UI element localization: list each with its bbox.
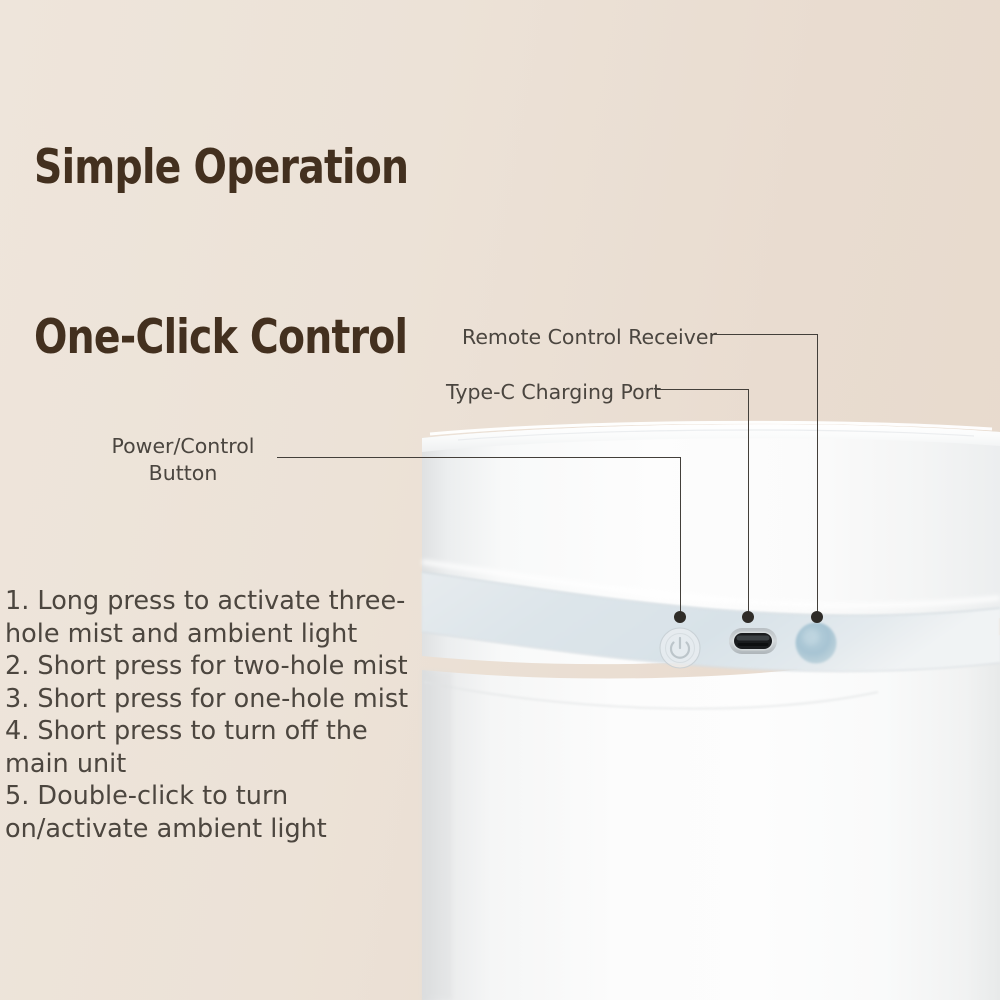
callout-label-power-control-button: Power/Control Button (92, 433, 274, 487)
power-button-graphic (660, 628, 700, 668)
instruction-list: 1. Long press to activate three-hole mis… (5, 585, 437, 845)
callout-label-power-line-1: Power/Control (112, 434, 255, 458)
callout-label-power-line-2: Button (149, 461, 218, 485)
leader-dot-power-control-button (674, 611, 686, 623)
callout-label-type-c-charging-port: Type-C Charging Port (446, 379, 661, 406)
instruction-step-3: 3. Short press for one-hole mist (5, 683, 437, 716)
instruction-step-2: 2. Short press for two-hole mist (5, 650, 437, 683)
usb-port-graphic (729, 628, 777, 654)
instruction-step-1: 1. Long press to activate three-hole mis… (5, 585, 437, 650)
instruction-step-5: 5. Double-click to turn on/activate ambi… (5, 780, 437, 845)
ir-receiver-graphic (796, 623, 837, 664)
leader-dot-type-c-charging-port (742, 611, 754, 623)
leader-dot-remote-control-receiver (811, 611, 823, 623)
product-image-humidifier (418, 420, 1000, 1000)
page-title: Simple Operation One-Click Control (34, 26, 611, 481)
infographic-canvas: Simple Operation One-Click Control (0, 0, 1000, 1000)
instruction-step-4: 4. Short press to turn off the main unit (5, 715, 437, 780)
page-title-line-1: Simple Operation (34, 140, 611, 197)
callout-label-remote-control-receiver: Remote Control Receiver (462, 324, 717, 351)
